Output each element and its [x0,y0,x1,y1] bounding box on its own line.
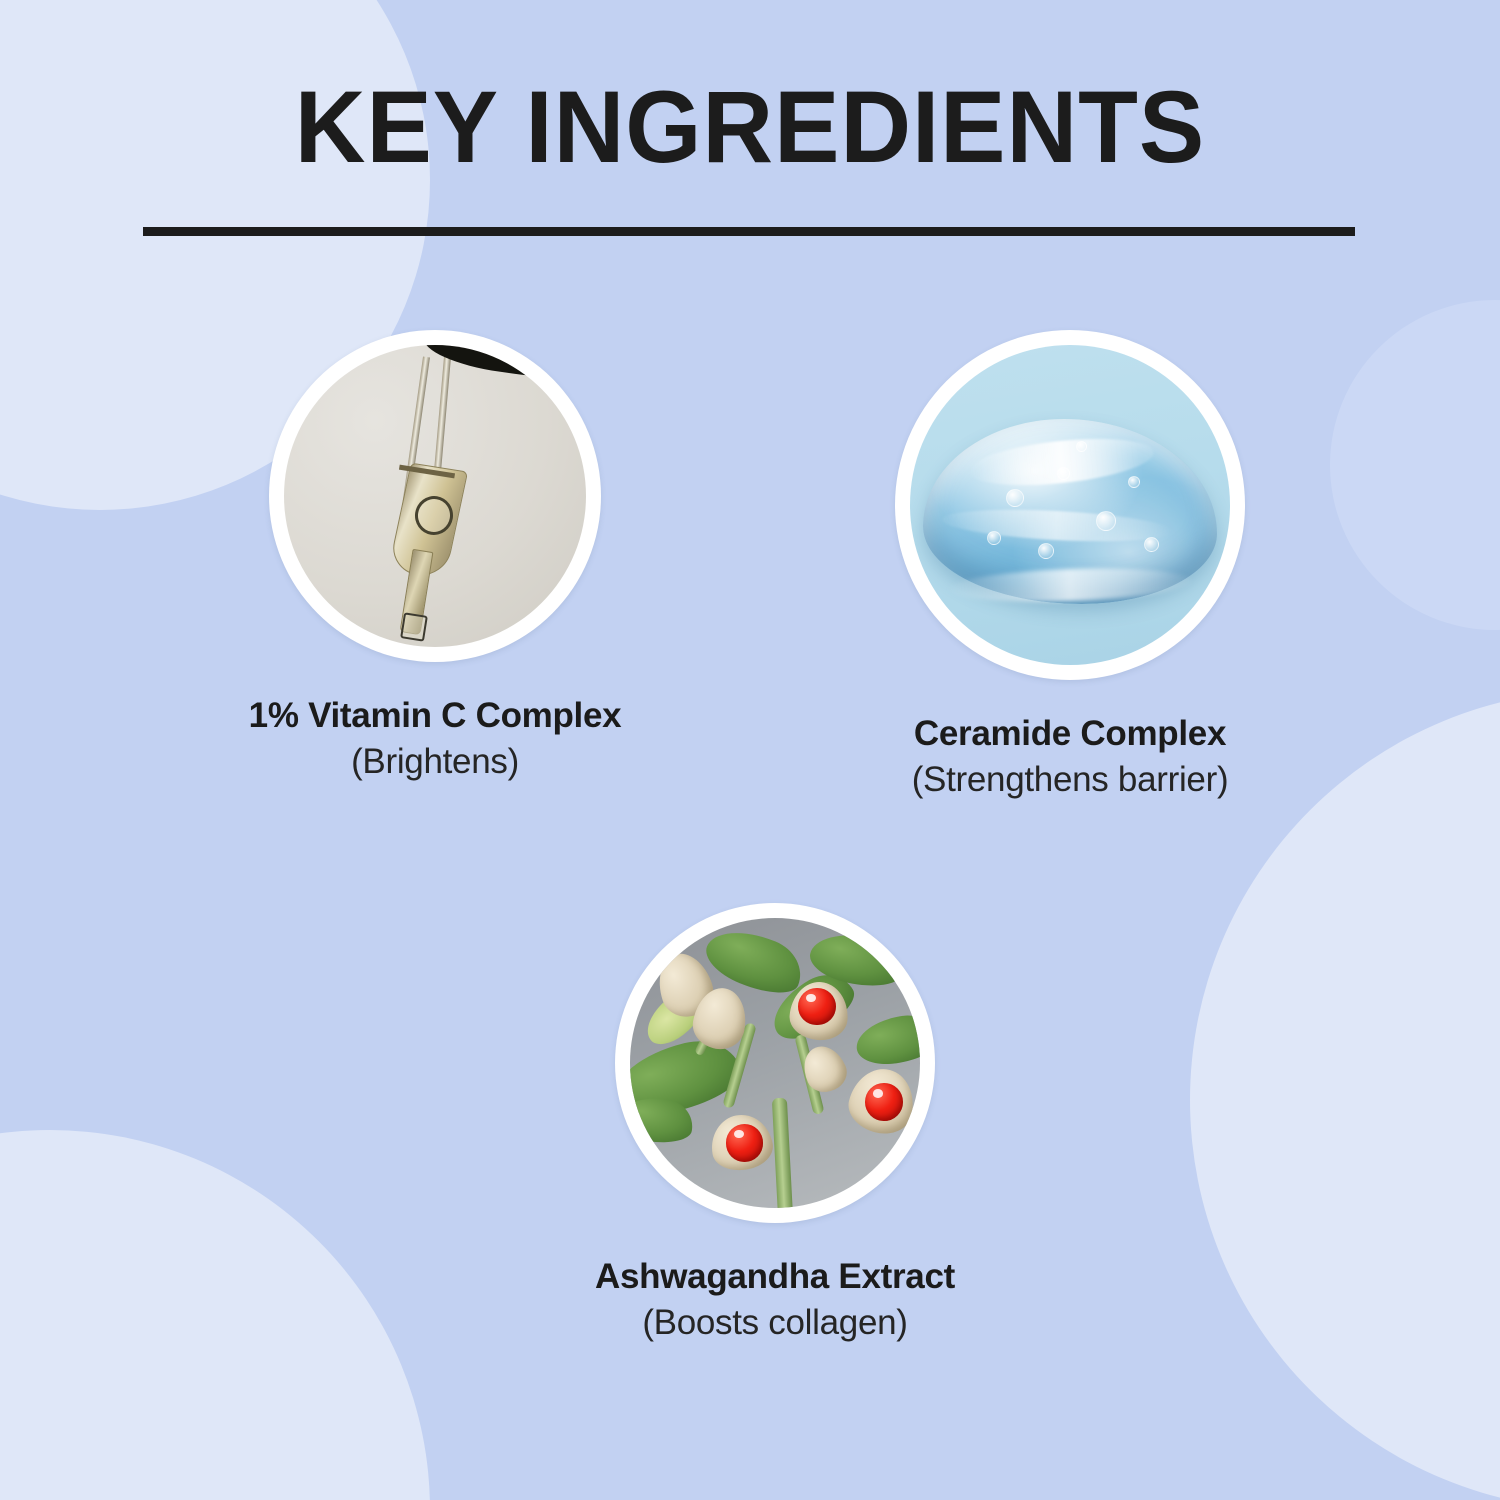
key-ingredients-poster: KEY INGREDIENTS 1% Vitamin C Complex (Br [0,0,1500,1500]
gel-bubble-icon [1006,489,1024,507]
ingredient-benefit: (Strengthens barrier) [770,758,1370,802]
plant-leaf-icon [853,1011,920,1068]
gel-bubble-icon [987,531,1001,545]
ingredient-card-vitamin-c: 1% Vitamin C Complex (Brightens) [135,330,735,784]
ingredient-benefit: (Brightens) [135,740,735,784]
ingredient-caption: 1% Vitamin C Complex (Brightens) [135,696,735,784]
ingredient-benefit: (Boosts collagen) [475,1301,1075,1345]
header: KEY INGREDIENTS [0,76,1500,178]
plant-berry-icon [798,988,836,1026]
dropper-tip-end-icon [400,612,428,641]
ingredient-name: Ceramide Complex [770,714,1370,754]
plant-berry-icon [726,1124,764,1162]
ashwagandha-plant-photo [630,918,920,1208]
ingredient-card-ceramide: Ceramide Complex (Strengthens barrier) [770,330,1370,802]
title-divider-rule [143,227,1355,236]
background-blob-bottom-left [0,1130,430,1500]
page-title: KEY INGREDIENTS [30,76,1470,178]
plant-stem-icon [772,1097,793,1208]
ingredient-photo-ring [895,330,1245,680]
ingredient-caption: Ceramide Complex (Strengthens barrier) [770,714,1370,802]
ingredient-name: 1% Vitamin C Complex [135,696,735,736]
blue-gel-photo [910,345,1230,665]
gel-bubble-icon [1144,537,1159,552]
ingredient-photo-ring [269,330,601,662]
ingredient-card-ashwagandha: Ashwagandha Extract (Boosts collagen) [475,903,1075,1345]
ingredient-caption: Ashwagandha Extract (Boosts collagen) [475,1257,1075,1345]
gel-bubble-icon [1128,476,1140,488]
serum-dropper-photo [284,345,586,647]
gel-bubble-icon [1096,511,1116,531]
plant-berry-icon [865,1083,903,1121]
ingredient-photo-ring [615,903,935,1223]
ingredient-name: Ashwagandha Extract [475,1257,1075,1297]
background-blob-right [1190,690,1500,1500]
gel-bubble-icon [1057,467,1070,480]
